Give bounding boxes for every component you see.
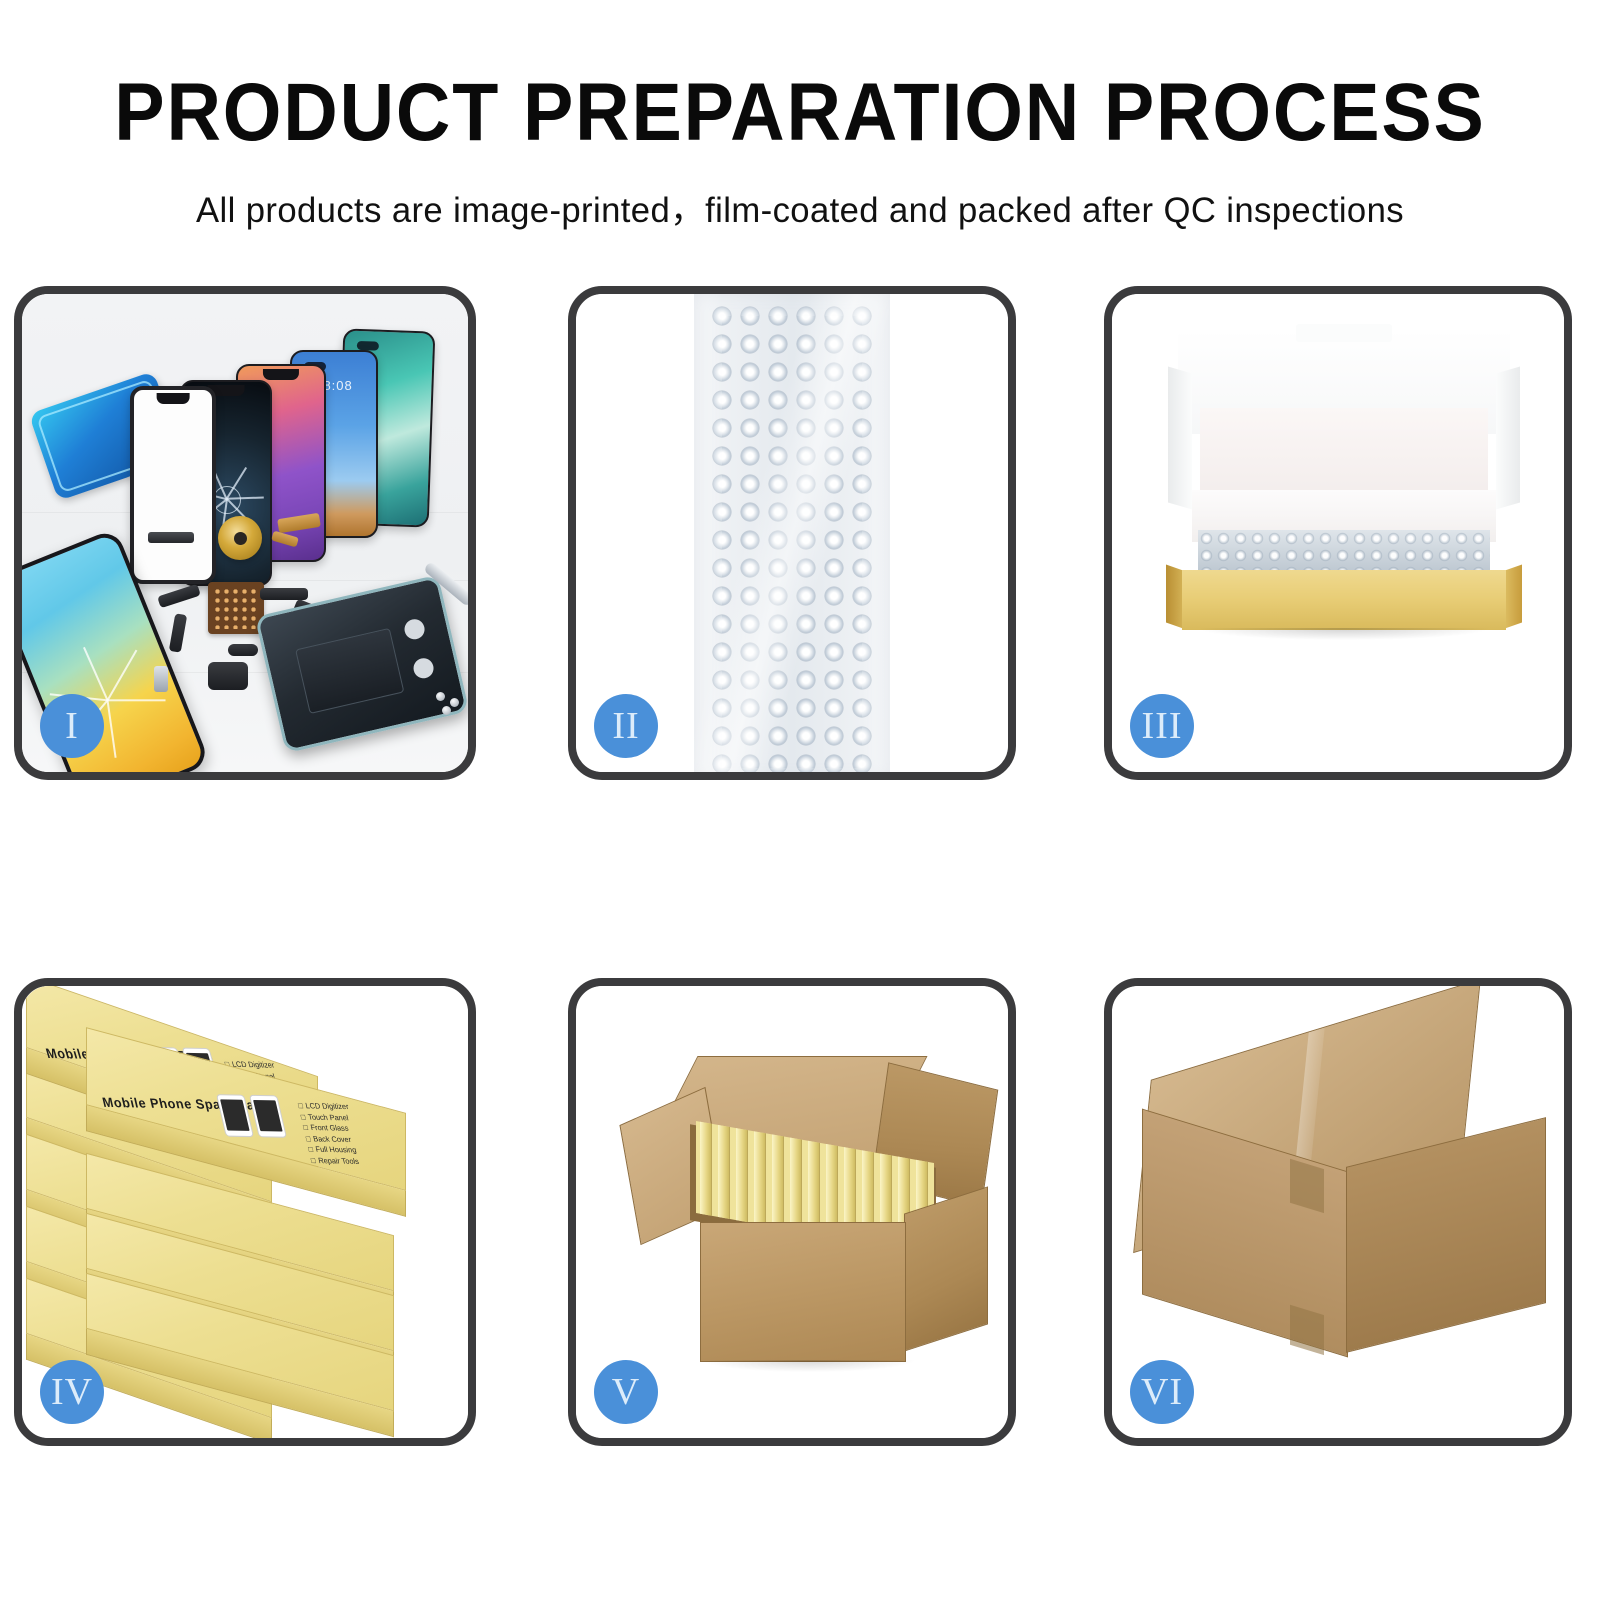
- packed-retail-box: [736, 1121, 748, 1232]
- carton-side-right: [904, 1186, 988, 1351]
- process-step-grid: 08:08: [14, 286, 1586, 1446]
- notch-icon: [157, 393, 190, 404]
- box-lid-right-flap: [1496, 367, 1520, 510]
- step-badge-1: I: [40, 694, 104, 758]
- part-screw: [450, 698, 459, 707]
- page-header: PRODUCT PREPARATION PROCESS All products…: [0, 0, 1600, 233]
- chip-solder-balls: [213, 587, 259, 629]
- checklist-item: Repair Tools: [310, 1155, 363, 1167]
- camera-lens-icon: [403, 617, 427, 641]
- page-title: PRODUCT PREPARATION PROCESS: [64, 72, 1536, 154]
- packed-retail-box: [718, 1121, 730, 1229]
- part-speaker-mesh: [148, 532, 194, 543]
- step-badge-5: V: [594, 1360, 658, 1424]
- drop-shadow: [1200, 628, 1488, 640]
- bubble-wrap-package: [694, 294, 890, 772]
- step-panel-5[interactable]: V: [568, 978, 1016, 1446]
- box-base-front: [1182, 570, 1506, 630]
- part-ic-chip: [208, 582, 264, 634]
- page-subtitle: All products are image-printed，film-coat…: [8, 182, 1592, 233]
- part-screw: [436, 692, 445, 701]
- crack-line: [106, 649, 137, 700]
- screen-protector-glass: [130, 386, 216, 584]
- packed-retail-box: [700, 1121, 712, 1226]
- step-badge-3: III: [1130, 694, 1194, 758]
- step-badge-4: IV: [40, 1360, 104, 1424]
- crack-line: [107, 699, 165, 701]
- part-earpiece: [228, 644, 258, 656]
- part-screw: [442, 706, 451, 715]
- step-panel-6[interactable]: VI: [1104, 978, 1572, 1446]
- checklist-item: LCD Digitizer: [297, 1101, 350, 1113]
- camera-lens-icon: [412, 656, 436, 680]
- crack-line: [227, 497, 264, 500]
- drop-shadow: [704, 1360, 914, 1372]
- crack-line: [83, 647, 108, 701]
- crack-line: [106, 700, 116, 758]
- box-label-product-images: [216, 1094, 287, 1138]
- checklist-item: Full Housing: [307, 1144, 360, 1156]
- tape-patch: [1290, 1159, 1324, 1213]
- tape-patch: [1290, 1305, 1324, 1355]
- packed-retail-box: [754, 1121, 766, 1235]
- part-button-flex: [260, 588, 308, 600]
- step-panel-3[interactable]: III: [1104, 286, 1572, 780]
- step-panel-4[interactable]: Mobile Phone Spare Parts LCD Digitizer T…: [14, 978, 476, 1446]
- box-lid-tab: [1296, 324, 1392, 342]
- open-shipping-carton: [624, 1050, 994, 1390]
- part-loudspeaker: [208, 662, 248, 690]
- checklist-item: Front Glass: [302, 1123, 355, 1135]
- sealed-shipping-carton: [1138, 1032, 1552, 1372]
- step-panel-2[interactable]: II: [568, 286, 1016, 780]
- carton-front: [700, 1222, 906, 1362]
- battery: [295, 627, 404, 713]
- step-badge-6: VI: [1130, 1360, 1194, 1424]
- part-sim-tray: [154, 666, 168, 692]
- plastic-sheen: [694, 294, 890, 772]
- notch-icon: [263, 369, 299, 380]
- open-mailer-box: [1164, 330, 1524, 710]
- step-badge-2: II: [594, 694, 658, 758]
- part-vibration-motor: [218, 516, 262, 560]
- box-lid-left-flap: [1168, 367, 1192, 510]
- step-panel-1[interactable]: 08:08: [14, 286, 476, 780]
